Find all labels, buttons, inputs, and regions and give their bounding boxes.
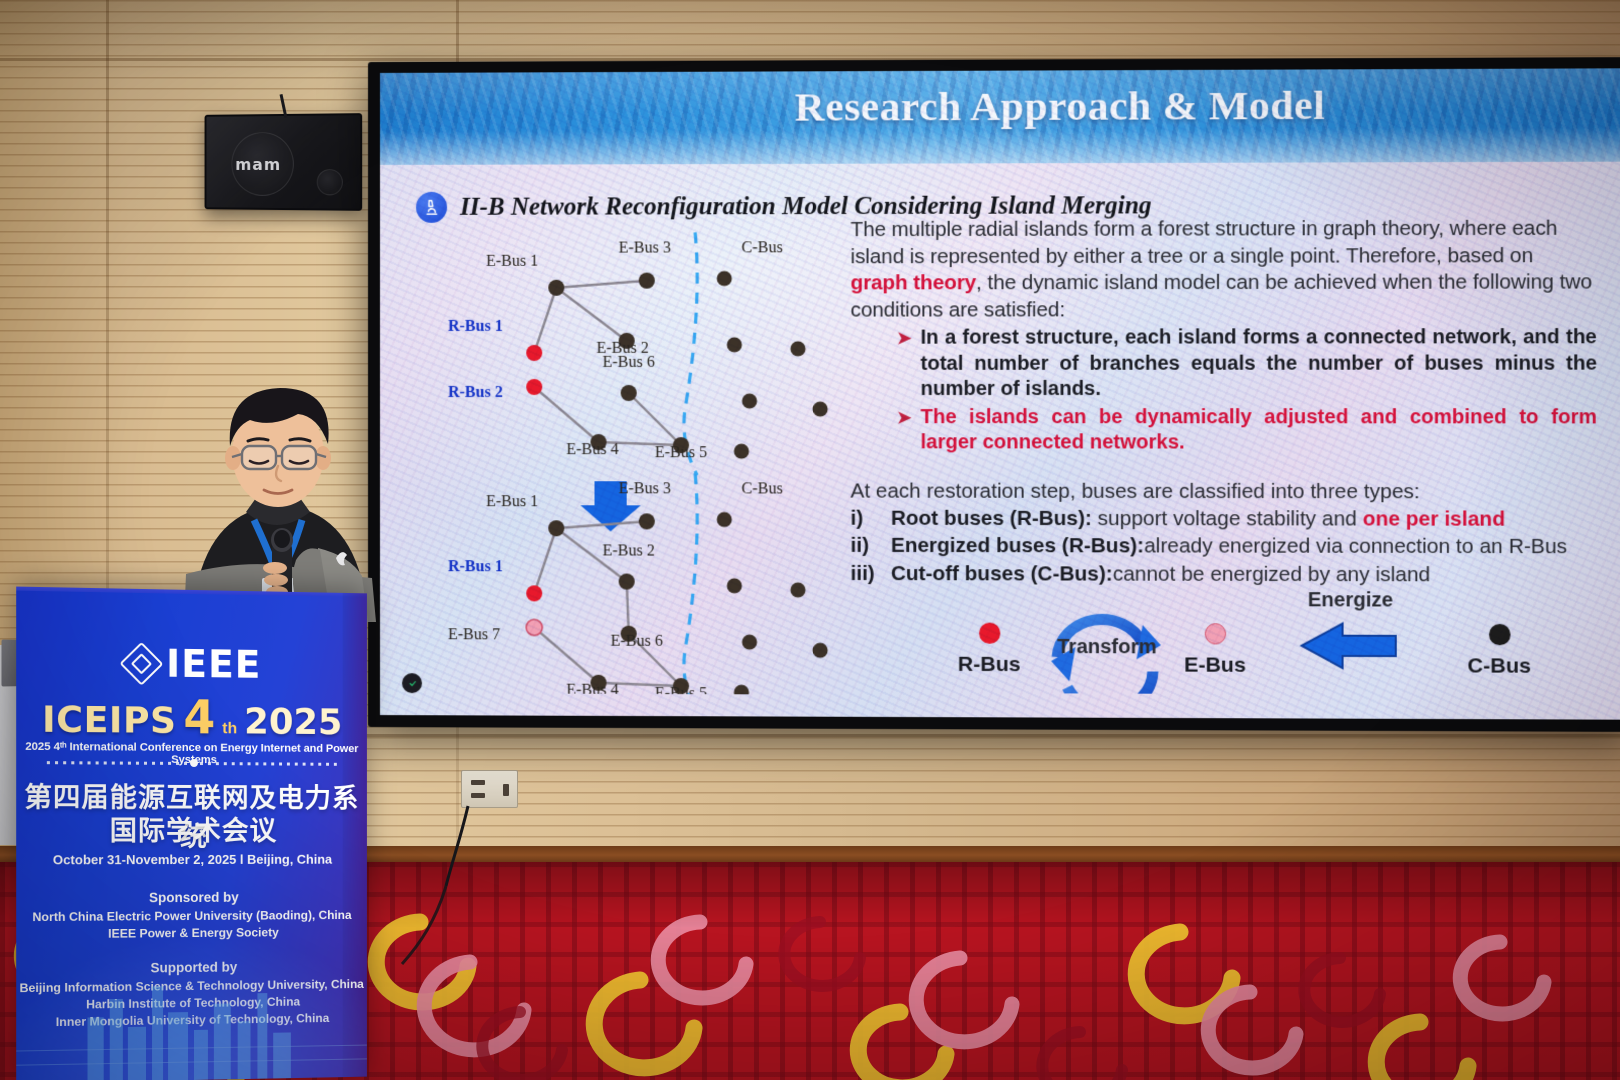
e-bus-node	[548, 520, 564, 536]
bus-node-label: E-Bus 7	[448, 626, 500, 643]
conference-year: 2025	[244, 702, 342, 744]
network-branch	[556, 281, 646, 288]
e-bus-node	[639, 513, 655, 529]
c-bus-label: C-Bus	[1453, 654, 1545, 679]
bus-node-label: E-Bus 6	[603, 354, 655, 371]
bus-legend: R-Bus E-Bus C-Bus Transform Energize	[944, 580, 1597, 695]
microscope-icon	[416, 192, 447, 223]
bus-node-label: E-Bus 4	[566, 682, 618, 695]
bus-node-label: E-Bus 1	[486, 253, 538, 270]
energize-arrow-icon	[1302, 623, 1396, 668]
bullet-arrow-icon: ➤	[897, 405, 911, 431]
legend-e-bus: E-Bus	[1169, 623, 1261, 678]
bus-node-label: R-Bus 1	[448, 318, 503, 335]
speaker-tweeter	[317, 169, 343, 195]
network-diagram-svg: C-BusE-Bus 1E-Bus 3E-Bus 2R-Bus 1R-Bus 2…	[388, 222, 861, 695]
bus-type-highlight: one per island	[1363, 507, 1505, 530]
legend-c-bus: C-Bus	[1453, 624, 1545, 679]
c-bus-node	[813, 643, 828, 658]
conditions-list: ➤ In a forest structure, each island for…	[851, 325, 1597, 456]
c-bus-node	[813, 402, 828, 417]
e-bus-node	[619, 574, 635, 590]
r-bus-label: R-Bus	[944, 653, 1035, 677]
conference-date-location: October 31-November 2, 2025 l Beijing, C…	[16, 852, 367, 868]
c-bus-dot-icon	[1488, 624, 1510, 645]
bus-node-label: R-Bus 1	[448, 558, 503, 575]
condition-item: ➤ The islands can be dynamically adjuste…	[897, 405, 1597, 457]
c-bus-node	[742, 635, 757, 650]
wall-speaker: mam	[205, 113, 363, 211]
island-boundary-dashed-line	[684, 473, 697, 694]
bus-type-desc: support voltage stability and	[1092, 506, 1363, 530]
slide-body-text: The multiple radial islands form a fores…	[851, 215, 1597, 588]
transform-label: Transform	[1057, 636, 1156, 659]
r-bus-node	[526, 379, 542, 395]
network-branch	[534, 528, 556, 593]
network-branch	[534, 627, 598, 682]
bus-node-label: E-Bus 5	[655, 685, 707, 695]
conference-hall-scene: mam Research Approach & Model	[0, 0, 1620, 1080]
r-bus-node	[526, 345, 542, 361]
presenter	[150, 362, 410, 622]
projection-screen: Research Approach & Model II-B Network R…	[368, 57, 1620, 732]
intro-part1: The multiple radial islands form a fores…	[851, 217, 1558, 268]
condition-text: In a forest structure, each island forms…	[921, 325, 1597, 403]
e-bus-dot-icon	[1204, 623, 1225, 644]
c-bus-caption: C-Bus	[741, 480, 782, 497]
r-bus-dot-icon	[979, 623, 1000, 644]
bullet-arrow-icon: ➤	[897, 326, 911, 352]
bus-node-label: E-Bus 4	[566, 441, 618, 458]
conference-podium: IEEE ICEIPS 4 th 2025 2025 4ᵗʰ Internati…	[16, 587, 367, 1080]
e-bus-node	[639, 273, 655, 289]
bus-type-number: iii)	[851, 560, 881, 587]
energize-label: Energize	[1308, 589, 1393, 612]
podium-skyline-graphic	[16, 948, 367, 1080]
conference-acronym: ICEIPS	[42, 699, 176, 741]
e-bus-node	[621, 385, 637, 401]
c-bus-node	[717, 271, 732, 286]
c-bus-caption: C-Bus	[741, 239, 782, 256]
network-diagrams: C-BusE-Bus 1E-Bus 3E-Bus 2R-Bus 1R-Bus 2…	[388, 222, 861, 695]
intro-paragraph: The multiple radial islands form a fores…	[851, 215, 1597, 323]
bus-type-item: i) Root buses (R-Bus): support voltage s…	[851, 505, 1597, 533]
wall-power-outlet[interactable]	[461, 770, 518, 808]
c-bus-node	[742, 393, 757, 408]
bus-node-label: E-Bus 5	[655, 444, 707, 461]
c-bus-node	[727, 337, 742, 352]
e-bus-node	[548, 280, 564, 296]
bus-type-number: ii)	[851, 533, 881, 560]
bus-type-item: ii) Energized buses (R-Bus):already ener…	[851, 533, 1597, 561]
ieee-diamond-icon	[119, 641, 163, 685]
bus-node-label: E-Bus 2	[603, 542, 655, 559]
bus-type-label: Energized buses (R-Bus):	[891, 534, 1144, 558]
bus-node-label: R-Bus 2	[448, 384, 503, 401]
bus-node-label: E-Bus 1	[486, 493, 538, 510]
legend-r-bus: R-Bus	[944, 623, 1035, 678]
e-bus-node-pink	[526, 619, 542, 635]
edition-suffix: th	[222, 720, 237, 738]
c-bus-node	[734, 685, 749, 695]
presentation-slide: Research Approach & Model II-B Network R…	[380, 68, 1620, 719]
r-bus-node	[526, 585, 542, 601]
c-bus-node	[727, 578, 742, 593]
speaker-brand-label: mam	[235, 155, 281, 174]
bus-type-label: Root buses (R-Bus):	[891, 506, 1092, 529]
slide-corner-icon	[402, 673, 422, 693]
c-bus-node	[790, 582, 805, 597]
ieee-logo: IEEE	[16, 639, 367, 688]
bus-node-label: E-Bus 3	[619, 239, 671, 256]
bus-type-number: i)	[851, 505, 881, 532]
bus-node-label: E-Bus 3	[619, 480, 671, 497]
network-diagram-before: C-BusE-Bus 1E-Bus 3E-Bus 2R-Bus 1R-Bus 2…	[448, 232, 828, 475]
bus-types-block: At each restoration step, buses are clas…	[851, 477, 1597, 589]
ieee-wordmark: IEEE	[166, 642, 261, 687]
network-branch	[629, 393, 681, 445]
network-branch	[556, 288, 626, 341]
c-bus-node	[790, 341, 805, 356]
sponsored-heading: Sponsored by	[16, 889, 367, 906]
graph-theory-highlight: graph theory	[851, 271, 977, 294]
slide-title: Research Approach & Model	[380, 79, 1620, 132]
c-bus-node	[717, 512, 732, 527]
conference-title-chinese-line2: 国际学术会议	[16, 809, 367, 849]
edition-number: 4	[183, 690, 215, 744]
sponsor-item: North China Electric Power University (B…	[16, 908, 367, 924]
bus-types-intro: At each restoration step, buses are clas…	[851, 477, 1597, 505]
screen-bezel: Research Approach & Model II-B Network R…	[380, 68, 1620, 719]
network-branch	[534, 387, 598, 442]
bus-type-desc: already energized via connection to an R…	[1144, 534, 1567, 558]
bus-node-label: E-Bus 6	[611, 633, 663, 650]
c-bus-node	[734, 444, 749, 459]
conference-acronym-row: ICEIPS 4 th 2025	[16, 688, 367, 745]
network-branch	[534, 288, 556, 353]
divider-dot	[190, 759, 198, 767]
e-bus-label: E-Bus	[1169, 653, 1261, 678]
condition-item: ➤ In a forest structure, each island for…	[897, 325, 1597, 403]
condition-text: The islands can be dynamically adjusted …	[921, 405, 1597, 457]
